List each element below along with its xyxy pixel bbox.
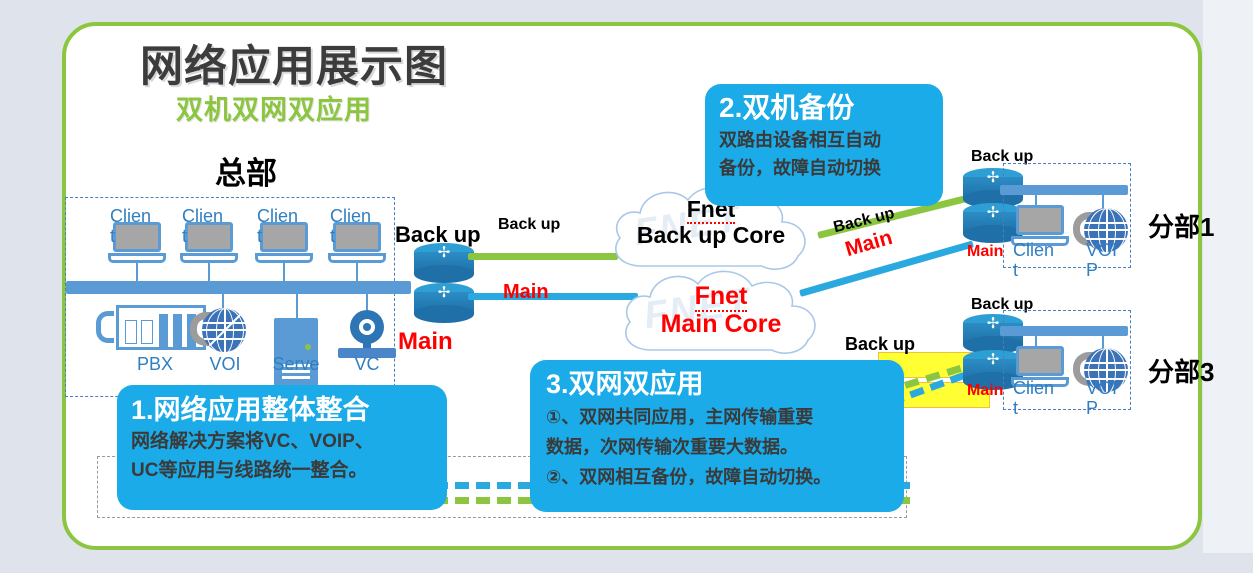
label-line-1: Clien (110, 206, 151, 226)
router-arrows-icon: ✢ (430, 286, 458, 299)
callout-3: 3.双网双应用 ①、双网共同应用，主网传输重要 数据，次网传输次重要大数据。 ②… (530, 360, 904, 512)
device-label-voi: VOI (190, 354, 260, 375)
trunk-link-main-label: Main (503, 281, 549, 304)
callout-3-title: 3.双网双应用 (546, 366, 888, 402)
connector-line (283, 263, 285, 281)
callout-1-title: 1.网络应用整体整合 (131, 393, 433, 427)
hq-client-1-label: Clien t (110, 206, 156, 246)
callout-1-body-line-1: 网络解决方案将VC、VOIP、 (131, 427, 433, 456)
connector-line (208, 263, 210, 281)
callout-1: 1.网络应用整体整合 网络解决方案将VC、VOIP、 UC等应用与线路统一整合。 (117, 385, 447, 510)
headquarters-label: 总部 (215, 148, 277, 193)
page-title: 网络应用展示图 (140, 32, 448, 94)
router-arrows-icon: ✢ (430, 246, 458, 259)
branch3-router-main-label: Main (967, 382, 1003, 400)
cloud-label-line-1: Fnet (695, 282, 748, 312)
background-left (0, 0, 70, 573)
headquarters-bus (66, 281, 411, 294)
label-line-2: t (1013, 398, 1018, 418)
globe-phone-icon[interactable] (202, 308, 246, 352)
cloud-label-line-2: Back up Core (637, 222, 785, 248)
callout-2-title: 2.双机备份 (719, 90, 929, 126)
background-bottom (0, 553, 1253, 573)
label-line-2: t (1013, 260, 1018, 280)
hq-router-backup[interactable]: ✢ (414, 243, 474, 283)
background-right (1203, 0, 1253, 573)
label-line-2: t (182, 226, 187, 246)
device-label-pbx: PBX (120, 354, 190, 375)
branch3-name: 分部3 (1148, 352, 1214, 389)
label-line-2: P (1086, 260, 1098, 280)
callout-3-body-line-2: 数据，次网传输次重要大数据。 (546, 432, 888, 462)
label-line-1: Clien (257, 206, 298, 226)
label-line-2: t (257, 226, 262, 246)
hq-client-4-label: Clien t (330, 206, 376, 246)
hq-router-main[interactable]: ✢ (414, 283, 474, 323)
label-line-1: VOI (1086, 240, 1117, 260)
branch1-name: 分部1 (1148, 207, 1214, 244)
connector-line (356, 263, 358, 281)
video-camera-icon[interactable] (338, 310, 396, 358)
page-subtitle: 双机双网双应用 (176, 88, 372, 127)
branch3-client-label: Clien t (1013, 378, 1059, 418)
label-line-2: t (110, 226, 115, 246)
laptop-base (328, 253, 386, 263)
label-line-2: P (1086, 398, 1098, 418)
label-line-2: t (330, 226, 335, 246)
label-line-1: VOI (1086, 378, 1117, 398)
callout-1-body-line-2: UC等应用与线路统一整合。 (131, 456, 433, 485)
phone-handset-icon (96, 311, 114, 343)
laptop-base (180, 253, 238, 263)
device-label-vc: VC (332, 354, 402, 375)
branch1-router-main-label: Main (967, 243, 1003, 261)
status-led (305, 344, 311, 350)
cloud-label-line-2: Main Core (661, 310, 782, 338)
label-line-1: Clien (1013, 378, 1054, 398)
branch3-link-backup-label: Back up (845, 334, 915, 355)
trunk-link-backup-label: Back up (498, 216, 560, 234)
laptop-base (108, 253, 166, 263)
callout-2-body-line-1: 双路由设备相互自动 (719, 126, 929, 154)
callout-2-body-line-2: 备份，故障自动切换 (719, 154, 929, 182)
laptop-base (255, 253, 313, 263)
label-line-1: Clien (1013, 240, 1054, 260)
label-line-1: Clien (182, 206, 223, 226)
callout-3-body-line-1: ①、双网共同应用，主网传输重要 (546, 402, 888, 432)
branch1-voip-label: VOI P (1086, 240, 1132, 280)
laptop-icon (1016, 346, 1064, 376)
hq-client-2-label: Clien t (182, 206, 228, 246)
branch3-bus (1000, 326, 1128, 336)
diagram-canvas: 网络应用展示图 双机双网双应用 总部 Clien t Clien t Clien… (0, 0, 1253, 573)
label-line-1: Clien (330, 206, 371, 226)
branch1-client-label: Clien t (1013, 240, 1059, 280)
branch1-bus (1000, 185, 1128, 195)
connector-line (296, 294, 298, 318)
branch3-voip-label: VOI P (1086, 378, 1132, 418)
laptop-icon (1016, 205, 1064, 235)
callout-3-body-line-3: ②、双网相互备份，故障自动切换。 (546, 462, 888, 492)
hq-client-3-label: Clien t (257, 206, 303, 246)
connector-line (136, 263, 138, 281)
callout-2: 2.双机备份 双路由设备相互自动 备份，故障自动切换 (705, 84, 943, 206)
server-icon[interactable] (274, 318, 318, 386)
device-label-serve: Serve (261, 354, 331, 375)
hq-router-main-label: Main (398, 328, 453, 356)
